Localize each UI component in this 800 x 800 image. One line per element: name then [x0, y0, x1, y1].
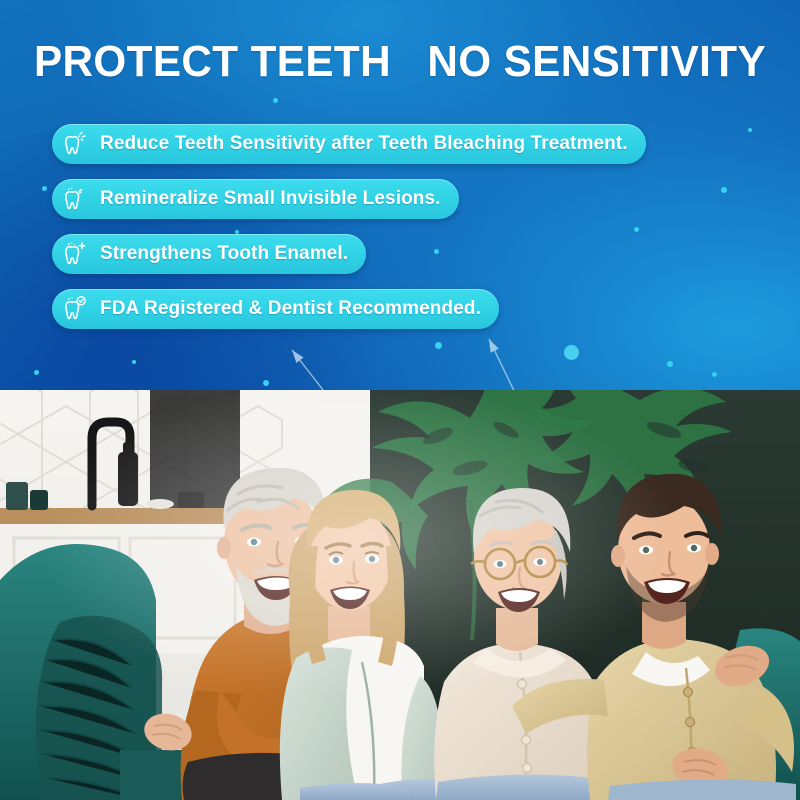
tooth-plus-icon	[60, 239, 90, 269]
promo-banner: PROTECT TEETH NO SENSITIVITY Redu	[0, 0, 800, 800]
decor-dot	[263, 380, 269, 386]
decor-dot	[273, 98, 278, 103]
feature-label: Remineralize Small Invisible Lesions.	[100, 179, 441, 219]
decor-dot	[132, 360, 136, 364]
decor-dot	[667, 361, 673, 367]
headline-panel: PROTECT TEETH NO SENSITIVITY Redu	[0, 0, 800, 390]
decor-dot	[42, 186, 47, 191]
feature-pill-strengthens-enamel[interactable]: Strengthens Tooth Enamel.	[52, 234, 366, 274]
tooth-crack-icon	[60, 184, 90, 214]
feature-list: Reduce Teeth Sensitivity after Teeth Ble…	[52, 124, 772, 344]
photo-illustration	[0, 390, 800, 800]
feature-pill-fda-registered[interactable]: FDA Registered & Dentist Recommended.	[52, 289, 499, 329]
feature-label: Reduce Teeth Sensitivity after Teeth Ble…	[100, 124, 628, 164]
feature-pill-reduce-sensitivity[interactable]: Reduce Teeth Sensitivity after Teeth Ble…	[52, 124, 646, 164]
tooth-check-icon	[60, 294, 90, 324]
decor-dot	[34, 370, 39, 375]
lifestyle-photo	[0, 390, 800, 800]
decor-dot	[712, 372, 717, 377]
decor-dot	[564, 345, 579, 360]
feature-pill-remineralize[interactable]: Remineralize Small Invisible Lesions.	[52, 179, 459, 219]
tooth-sparkle-icon	[60, 129, 90, 159]
feature-label: Strengthens Tooth Enamel.	[100, 234, 348, 274]
feature-label: FDA Registered & Dentist Recommended.	[100, 289, 481, 329]
